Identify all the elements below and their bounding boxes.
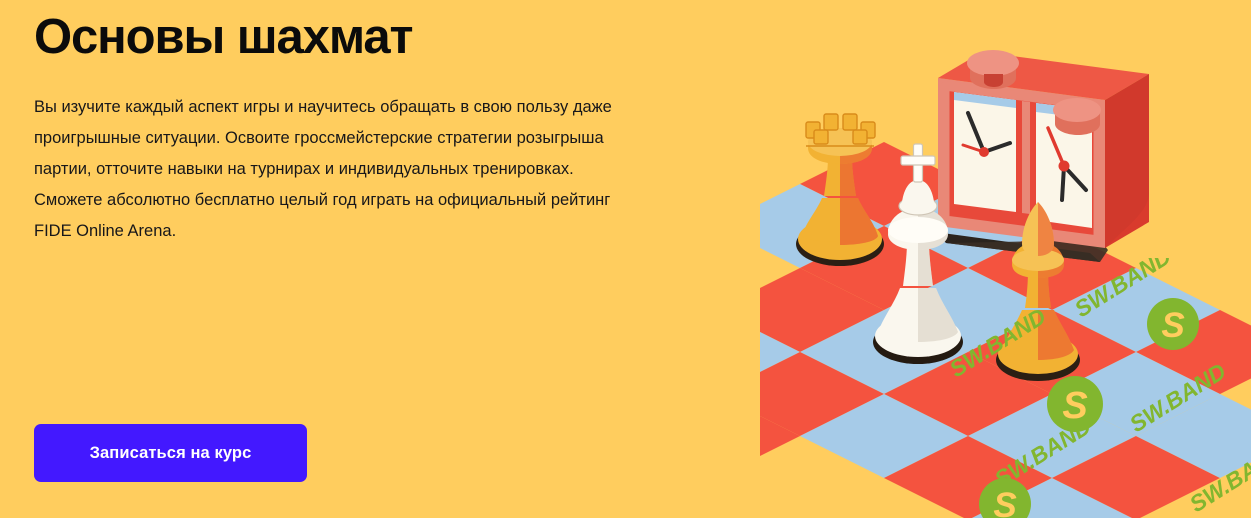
hero-content: Основы шахмат Вы изучите каждый аспект и… [34,0,654,518]
hero-section: Основы шахмат Вы изучите каждый аспект и… [0,0,1251,518]
clock-dial-left [954,92,1016,212]
clock-button-right [1053,98,1101,135]
page-title: Основы шахмат [34,8,412,66]
chess-illustration [760,0,1251,518]
clock-button-left [967,50,1019,89]
course-description: Вы изучите каждый аспект игры и научитес… [34,92,624,247]
enroll-course-button[interactable]: Записаться на курс [34,424,307,482]
